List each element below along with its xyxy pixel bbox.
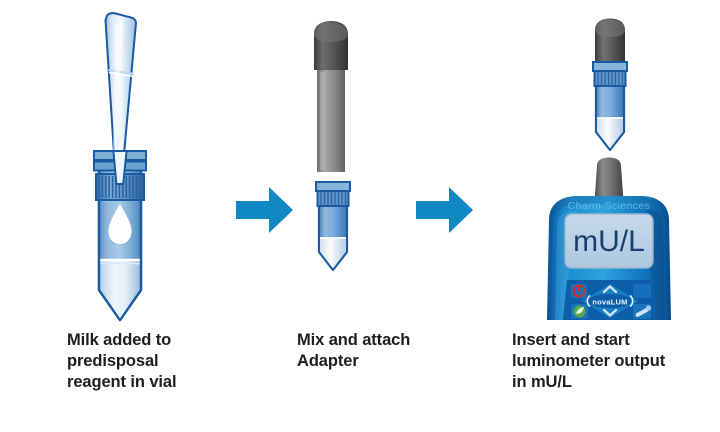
adapter-icon (314, 21, 348, 172)
lcd-value: mU/L (573, 225, 645, 258)
workflow-diagram: Charm Sciences mU/L (0, 0, 720, 432)
test-key[interactable] (571, 304, 588, 319)
vial-with-adapter-icon (593, 19, 627, 151)
step-3-graphic: Charm Sciences mU/L (505, 8, 705, 320)
arrow-2-icon (416, 186, 474, 234)
aux-key[interactable] (633, 284, 651, 298)
novalum-label: novaLUM (592, 297, 627, 306)
step-2-graphic (300, 12, 380, 277)
sample-vial-icon (94, 151, 146, 320)
sample-vial-small-icon (316, 182, 350, 270)
step-1-caption: Milk added to predisposal reagent in via… (67, 330, 267, 393)
power-key[interactable] (571, 284, 587, 298)
arrow-1-icon (236, 186, 294, 234)
step-3-caption: Insert and start luminometer output in m… (512, 330, 717, 393)
step-2-caption: Mix and attach Adapter (297, 330, 487, 372)
luminometer-device[interactable]: Charm Sciences mU/L (547, 196, 671, 320)
swab-key[interactable] (633, 304, 651, 319)
device-brand-label: Charm Sciences (568, 200, 651, 212)
step-1-graphic (85, 8, 195, 323)
